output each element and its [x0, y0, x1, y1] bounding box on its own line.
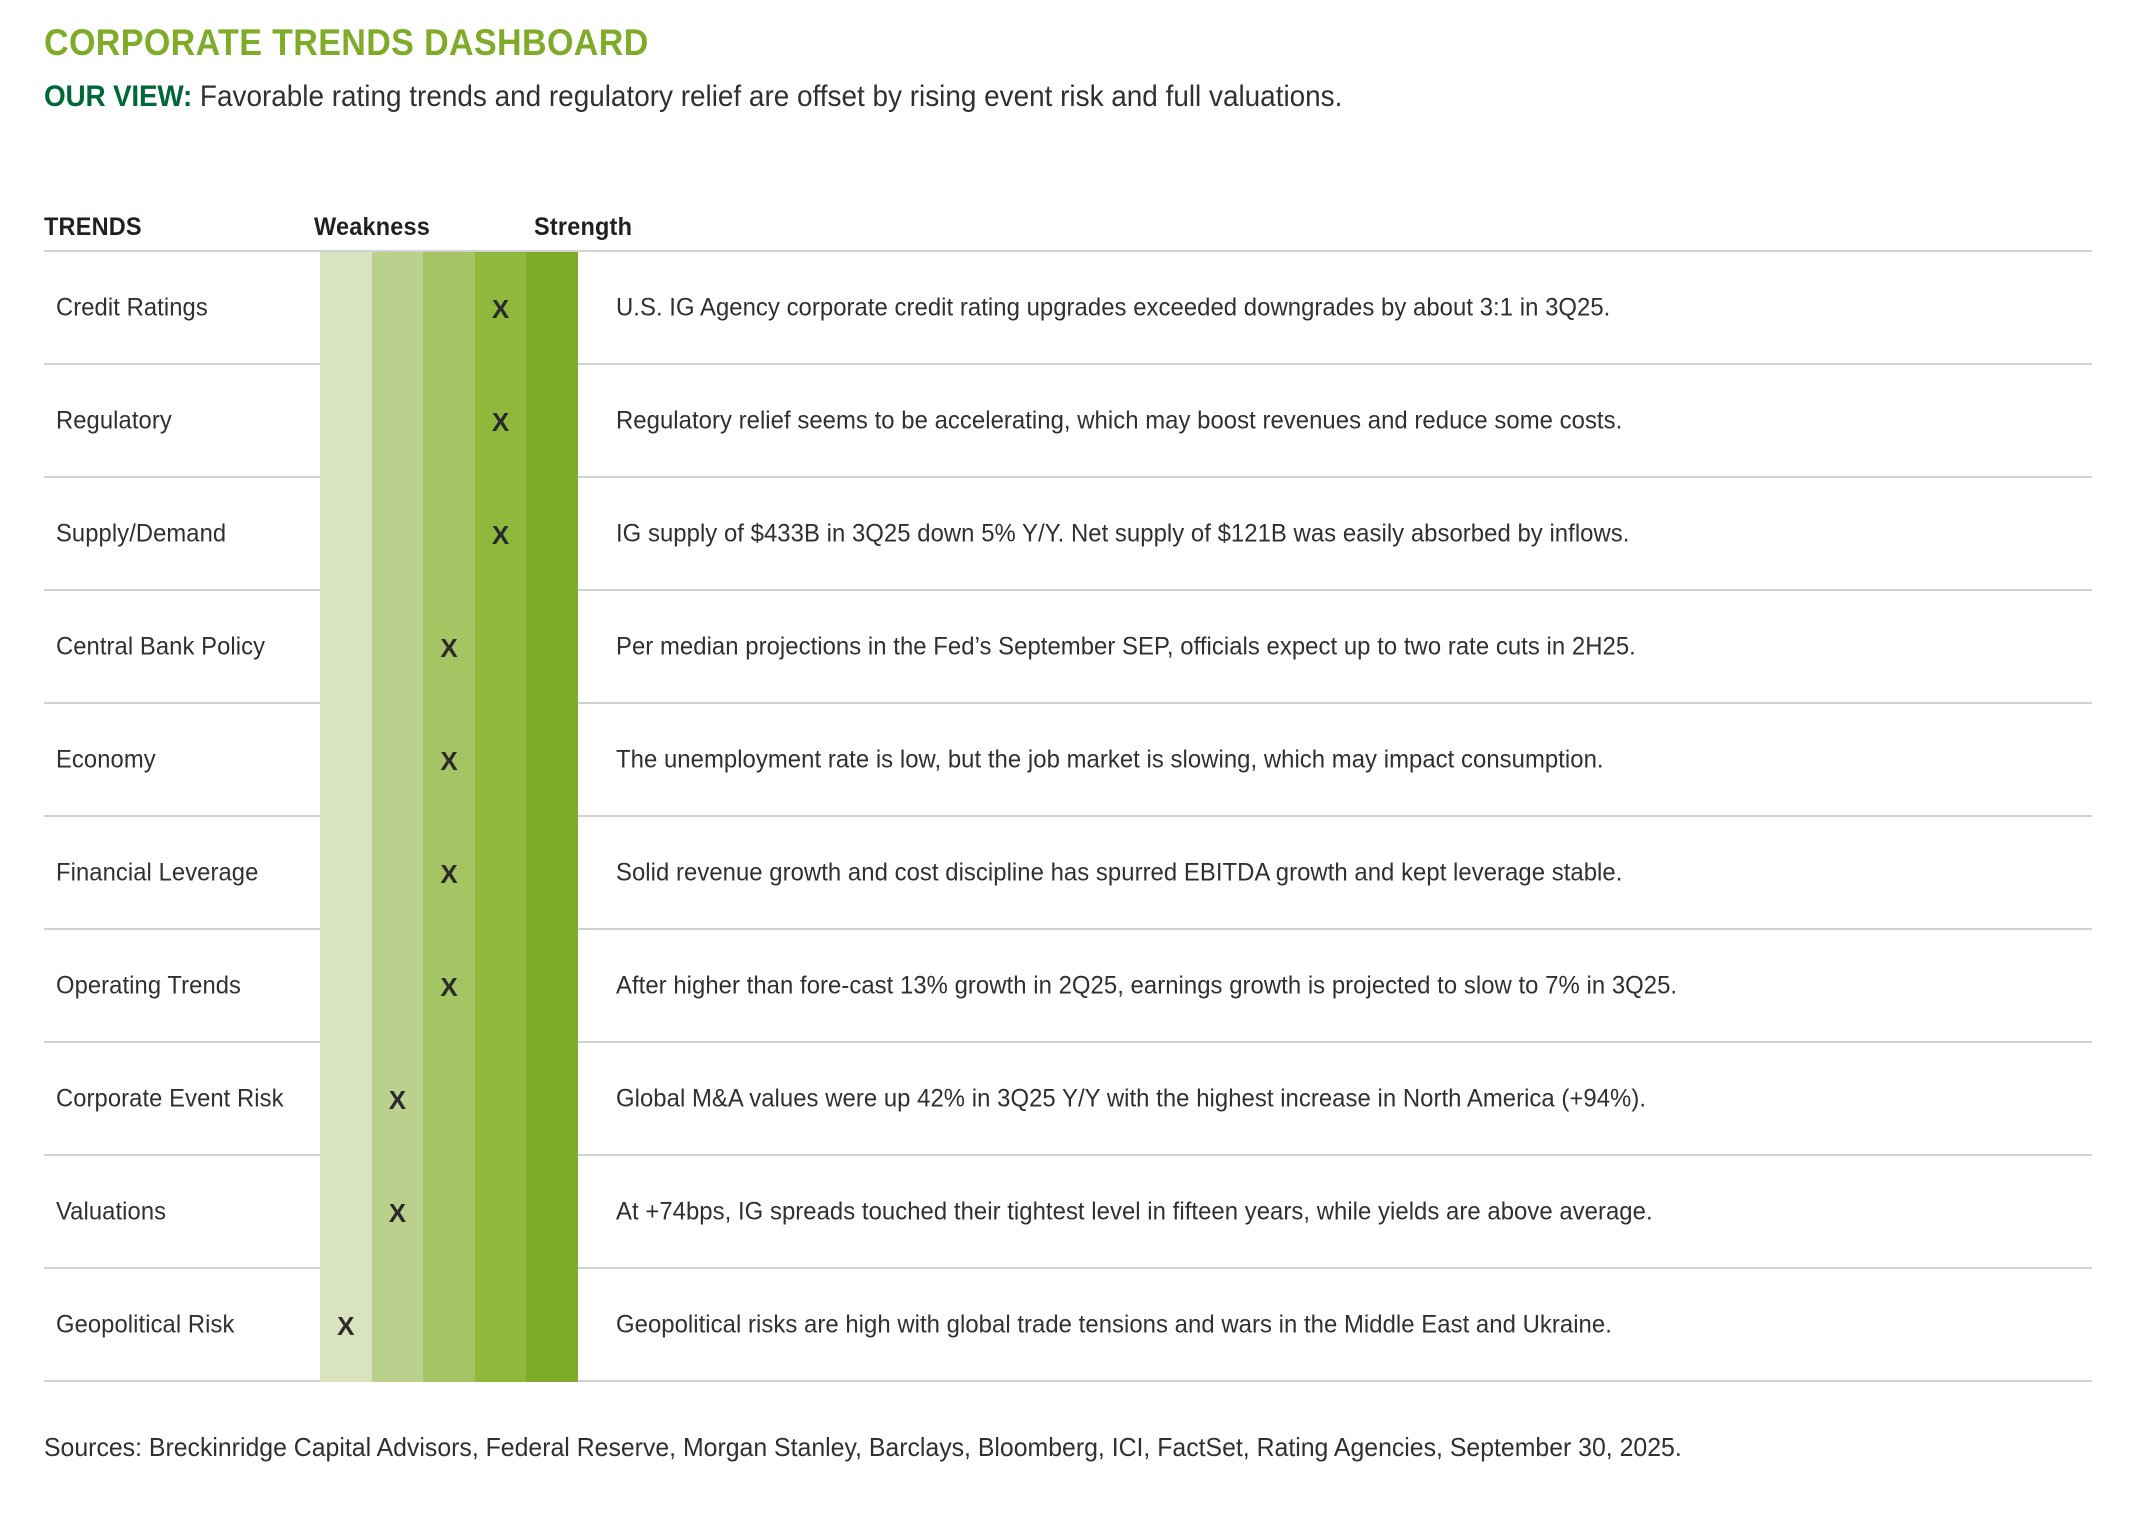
- strength-scale: X: [320, 1043, 578, 1156]
- scale-marker-x: X: [475, 409, 527, 435]
- table-row: EconomyXThe unemployment rate is low, bu…: [44, 704, 2092, 817]
- dashboard-header: CORPORATE TRENDS DASHBOARD OUR VIEW: Fav…: [44, 22, 2094, 115]
- scale-band-2[interactable]: X: [372, 1043, 424, 1156]
- scale-band-5[interactable]: [526, 252, 578, 365]
- scale-band-5[interactable]: [526, 591, 578, 704]
- scale-band-3[interactable]: [423, 1043, 475, 1156]
- scale-band-1[interactable]: [320, 591, 372, 704]
- scale-band-4[interactable]: [475, 591, 527, 704]
- scale-band-3[interactable]: X: [423, 817, 475, 930]
- scale-band-5[interactable]: [526, 478, 578, 591]
- scale-band-3[interactable]: X: [423, 930, 475, 1043]
- scale-band-5[interactable]: [526, 704, 578, 817]
- scale-marker-x: X: [423, 748, 475, 774]
- table-row: Geopolitical RiskXGeopolitical risks are…: [44, 1269, 2092, 1382]
- strength-scale: X: [320, 930, 578, 1043]
- our-view-label: OUR VIEW:: [44, 80, 192, 113]
- scale-marker-x: X: [372, 1087, 424, 1113]
- scale-band-4[interactable]: X: [475, 252, 527, 365]
- trend-description: Global M&A values were up 42% in 3Q25 Y/…: [616, 1084, 1646, 1113]
- trend-label: Valuations: [56, 1197, 166, 1226]
- trend-description: The unemployment rate is low, but the jo…: [616, 745, 1604, 774]
- strength-scale: X: [320, 1269, 578, 1382]
- strength-scale: X: [320, 817, 578, 930]
- scale-band-4[interactable]: X: [475, 478, 527, 591]
- our-view-line: OUR VIEW: Favorable rating trends and re…: [44, 79, 1951, 115]
- scale-band-3[interactable]: [423, 1269, 475, 1382]
- scale-band-4[interactable]: [475, 704, 527, 817]
- strength-scale: X: [320, 365, 578, 478]
- scale-marker-x: X: [372, 1200, 424, 1226]
- scale-band-5[interactable]: [526, 930, 578, 1043]
- scale-band-3[interactable]: [423, 478, 475, 591]
- trend-label: Supply/Demand: [56, 519, 226, 548]
- table-body: Credit RatingsXU.S. IG Agency corporate …: [44, 250, 2092, 1382]
- scale-marker-x: X: [423, 861, 475, 887]
- trend-label: Geopolitical Risk: [56, 1310, 234, 1339]
- table-row: Financial LeverageXSolid revenue growth …: [44, 817, 2092, 930]
- strength-scale: X: [320, 704, 578, 817]
- trend-description: At +74bps, IG spreads touched their tigh…: [616, 1197, 1653, 1226]
- scale-band-1[interactable]: [320, 930, 372, 1043]
- page-title: CORPORATE TRENDS DASHBOARD: [44, 22, 1930, 63]
- scale-band-2[interactable]: [372, 930, 424, 1043]
- strength-scale: X: [320, 1156, 578, 1269]
- table-row: Supply/DemandXIG supply of $433B in 3Q25…: [44, 478, 2092, 591]
- scale-band-5[interactable]: [526, 817, 578, 930]
- scale-marker-x: X: [475, 296, 527, 322]
- table-row: Central Bank PolicyXPer median projectio…: [44, 591, 2092, 704]
- column-header-weakness: Weakness: [314, 213, 430, 242]
- trend-label: Operating Trends: [56, 971, 241, 1000]
- trend-label: Economy: [56, 745, 156, 774]
- scale-band-5[interactable]: [526, 365, 578, 478]
- scale-band-1[interactable]: [320, 704, 372, 817]
- table-row: ValuationsXAt +74bps, IG spreads touched…: [44, 1156, 2092, 1269]
- strength-scale: X: [320, 252, 578, 365]
- scale-band-3[interactable]: [423, 365, 475, 478]
- scale-band-2[interactable]: [372, 1269, 424, 1382]
- scale-band-4[interactable]: [475, 1043, 527, 1156]
- scale-band-2[interactable]: [372, 252, 424, 365]
- trend-description: Regulatory relief seems to be accelerati…: [616, 406, 1622, 435]
- scale-band-4[interactable]: [475, 1156, 527, 1269]
- scale-marker-x: X: [423, 974, 475, 1000]
- trend-label: Corporate Event Risk: [56, 1084, 284, 1113]
- scale-band-1[interactable]: [320, 252, 372, 365]
- scale-band-5[interactable]: [526, 1269, 578, 1382]
- scale-band-1[interactable]: [320, 1043, 372, 1156]
- scale-band-1[interactable]: [320, 817, 372, 930]
- scale-band-2[interactable]: [372, 704, 424, 817]
- our-view-text: Favorable rating trends and regulatory r…: [200, 80, 1342, 113]
- scale-band-4[interactable]: [475, 1269, 527, 1382]
- scale-band-2[interactable]: [372, 365, 424, 478]
- table-row: Operating TrendsXAfter higher than fore-…: [44, 930, 2092, 1043]
- scale-band-4[interactable]: [475, 930, 527, 1043]
- scale-band-2[interactable]: X: [372, 1156, 424, 1269]
- scale-marker-x: X: [475, 522, 527, 548]
- trends-table: TRENDS Weakness Strength Credit RatingsX…: [44, 196, 2092, 1382]
- trend-description: Geopolitical risks are high with global …: [616, 1310, 1612, 1339]
- scale-band-3[interactable]: [423, 1156, 475, 1269]
- scale-band-5[interactable]: [526, 1156, 578, 1269]
- scale-band-4[interactable]: [475, 817, 527, 930]
- scale-band-4[interactable]: X: [475, 365, 527, 478]
- scale-band-5[interactable]: [526, 1043, 578, 1156]
- scale-band-1[interactable]: X: [320, 1269, 372, 1382]
- strength-scale: X: [320, 478, 578, 591]
- trend-description: U.S. IG Agency corporate credit rating u…: [616, 293, 1610, 322]
- scale-band-1[interactable]: [320, 478, 372, 591]
- trend-description: After higher than fore-cast 13% growth i…: [616, 971, 1677, 1000]
- table-row: Credit RatingsXU.S. IG Agency corporate …: [44, 252, 2092, 365]
- scale-band-2[interactable]: [372, 817, 424, 930]
- table-row: Corporate Event RiskXGlobal M&A values w…: [44, 1043, 2092, 1156]
- scale-band-3[interactable]: [423, 252, 475, 365]
- trend-description: IG supply of $433B in 3Q25 down 5% Y/Y. …: [616, 519, 1629, 548]
- scale-marker-x: X: [320, 1313, 372, 1339]
- trend-label: Credit Ratings: [56, 293, 208, 322]
- scale-band-2[interactable]: [372, 591, 424, 704]
- trend-label: Regulatory: [56, 406, 172, 435]
- column-header-strength: Strength: [534, 213, 632, 242]
- table-column-headers: TRENDS Weakness Strength: [44, 196, 2092, 250]
- table-row: RegulatoryXRegulatory relief seems to be…: [44, 365, 2092, 478]
- scale-band-3[interactable]: X: [423, 591, 475, 704]
- trend-label: Central Bank Policy: [56, 632, 265, 661]
- strength-scale: X: [320, 591, 578, 704]
- column-header-trends: TRENDS: [44, 213, 142, 242]
- scale-marker-x: X: [423, 635, 475, 661]
- dashboard-page: CORPORATE TRENDS DASHBOARD OUR VIEW: Fav…: [0, 0, 2134, 1521]
- trend-description: Solid revenue growth and cost discipline…: [616, 858, 1622, 887]
- scale-band-1[interactable]: [320, 365, 372, 478]
- scale-band-1[interactable]: [320, 1156, 372, 1269]
- scale-band-2[interactable]: [372, 478, 424, 591]
- sources-note: Sources: Breckinridge Capital Advisors, …: [44, 1432, 2002, 1463]
- scale-band-3[interactable]: X: [423, 704, 475, 817]
- trend-description: Per median projections in the Fed’s Sept…: [616, 632, 1636, 661]
- trend-label: Financial Leverage: [56, 858, 258, 887]
